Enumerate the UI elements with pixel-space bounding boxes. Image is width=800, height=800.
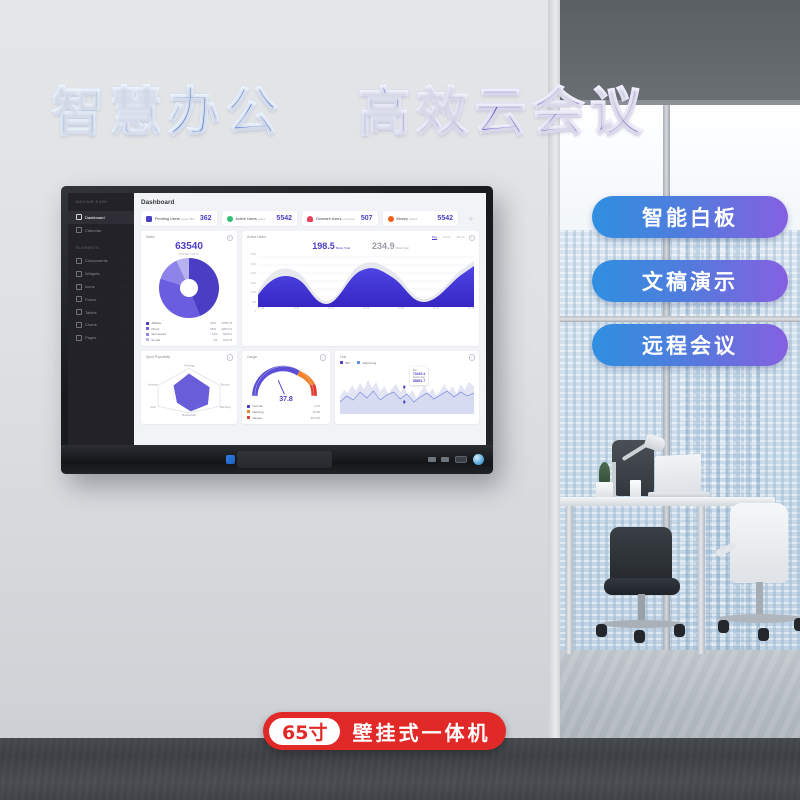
potted-plant-pot bbox=[596, 482, 613, 498]
stat-subtitle: dollars bbox=[409, 217, 417, 221]
legend-swatch bbox=[146, 338, 149, 341]
caster bbox=[596, 624, 607, 637]
caster bbox=[674, 624, 685, 637]
tab-month[interactable]: Month bbox=[457, 235, 465, 241]
stat-value: 5542 bbox=[437, 215, 453, 222]
calendar-icon bbox=[76, 227, 82, 233]
line-legend: Bid Swimming bbox=[340, 361, 474, 365]
sidebar-item-label: Pages bbox=[85, 335, 96, 340]
gear-icon[interactable] bbox=[469, 354, 476, 361]
legend-label: Swimming bbox=[362, 361, 376, 365]
legend-item: Sponsored 13% 8260.2 bbox=[146, 332, 232, 336]
power-button[interactable] bbox=[473, 454, 484, 465]
legend-item: Warning 70-90 bbox=[247, 410, 325, 414]
sidebar: MAXHUB DASH Dashboard Calendar ELEMENTS … bbox=[68, 193, 134, 445]
legend-item: E-mail 7% 4447.8 bbox=[146, 338, 232, 342]
add-card-button[interactable]: + bbox=[463, 211, 479, 226]
chart-tooltip: Bid 73419.4 Swimming 58851.7 bbox=[410, 367, 428, 385]
feature-badge-remote-meeting[interactable]: 远程会议 bbox=[592, 324, 788, 366]
stat-card-dormant-users[interactable]: Dormant Users undertime 507 bbox=[302, 211, 378, 226]
sales-donut-chart bbox=[159, 258, 219, 318]
stat-value: 5542 bbox=[276, 215, 292, 222]
stat-title: Active Users bbox=[236, 217, 257, 221]
legend-range: 0-70 bbox=[314, 404, 325, 408]
sidebar-item-icons[interactable]: Icons › bbox=[68, 280, 134, 293]
sidebar-brand: MAXHUB DASH bbox=[68, 200, 134, 211]
line-card: Line Bid Swimming bbox=[335, 351, 479, 424]
plate-total-label: Plate Total bbox=[396, 246, 409, 250]
legend-swatch bbox=[247, 405, 250, 408]
potted-plant-leaves bbox=[599, 462, 610, 484]
totals-row: 198.5 Butter Total 234.9 Plate Total bbox=[247, 241, 474, 251]
white-chair-post bbox=[756, 582, 763, 618]
stat-subtitle: active bbox=[258, 217, 265, 221]
legend-label: Direct bbox=[152, 327, 160, 331]
gear-icon[interactable] bbox=[469, 235, 476, 242]
stat-title: Dormant Users bbox=[316, 217, 342, 221]
desk-leg-left bbox=[566, 506, 573, 654]
legend-range: 90-100 bbox=[311, 416, 325, 420]
area-plot bbox=[258, 253, 474, 307]
card-title: Sales bbox=[146, 235, 232, 239]
stat-value: 362 bbox=[200, 215, 212, 222]
laptop-screen bbox=[655, 454, 701, 496]
size-badge: 65寸 bbox=[269, 718, 340, 745]
wall-mounted-display: MAXHUB DASH Dashboard Calendar ELEMENTS … bbox=[61, 186, 493, 474]
speaker-grille bbox=[237, 451, 332, 468]
plate-total-value: 234.9 bbox=[372, 241, 395, 251]
legend-amount: 22874.4 bbox=[221, 327, 232, 331]
legend-item: Direct 36% 22874.4 bbox=[146, 327, 232, 331]
feature-badge-presentation[interactable]: 文稿演示 bbox=[592, 260, 788, 302]
legend-item: Affiliate 44% 27857.8 bbox=[146, 321, 232, 325]
stat-card-money[interactable]: Money dollars 5542 bbox=[383, 211, 459, 226]
dashboard-page-title: Dashboard bbox=[141, 199, 479, 206]
product-banner: 65寸 壁挂式一体机 bbox=[263, 712, 506, 750]
legend-swatch bbox=[247, 410, 250, 413]
legend-pct: 7% bbox=[213, 338, 222, 342]
svg-text:Golf: Golf bbox=[150, 405, 156, 409]
chart-icon bbox=[76, 322, 82, 328]
legend-item: Normal 0-70 bbox=[247, 404, 325, 408]
widgets-icon bbox=[76, 271, 82, 277]
card-title: Line bbox=[340, 355, 474, 359]
caster bbox=[634, 630, 645, 643]
stat-title: Pending Users bbox=[155, 217, 180, 221]
sport-popularity-card: Sport Popularity Training Soccer Running… bbox=[141, 351, 237, 424]
headline-left: 智慧办公 bbox=[52, 83, 284, 143]
legend-swatch bbox=[146, 327, 149, 330]
svg-text:Soccer: Soccer bbox=[221, 382, 230, 386]
sidebar-item-widgets[interactable]: Widgets › bbox=[68, 267, 134, 280]
leaf-icon bbox=[227, 216, 233, 222]
card-title: Sport Popularity bbox=[146, 355, 232, 359]
logo-mark-icon bbox=[226, 455, 235, 464]
components-icon bbox=[76, 258, 82, 264]
usb-port-icon bbox=[455, 456, 467, 463]
sidebar-item-calendar[interactable]: Calendar bbox=[68, 224, 134, 237]
legend-amount: 8260.2 bbox=[223, 332, 232, 336]
heart-icon bbox=[307, 216, 313, 222]
tab-day[interactable]: Day bbox=[432, 235, 437, 241]
caster bbox=[794, 618, 800, 631]
chevron-right-icon: › bbox=[125, 323, 126, 327]
table-icon bbox=[76, 309, 82, 315]
caster bbox=[718, 620, 729, 633]
legend-label: Sponsored bbox=[152, 332, 167, 336]
black-chair-seat bbox=[604, 578, 680, 595]
active-users-card: Active Users Day Week Month 198.5 Butte bbox=[242, 231, 479, 346]
feature-badge-whiteboard[interactable]: 智能白板 bbox=[592, 196, 788, 238]
sidebar-item-label: Tables bbox=[85, 310, 97, 315]
stat-title: Money bbox=[397, 217, 408, 221]
page-title: 智慧办公 高效云会议 bbox=[0, 70, 700, 145]
stat-subtitle: undertime bbox=[343, 217, 355, 221]
headline-right: 高效云会议 bbox=[358, 83, 648, 143]
black-chair-base bbox=[600, 620, 684, 628]
sidebar-item-label: Charts bbox=[85, 322, 97, 327]
card-title: Gauge bbox=[247, 355, 325, 359]
svg-text:Training: Training bbox=[184, 363, 195, 367]
svg-text:Hockey: Hockey bbox=[148, 382, 158, 386]
coin-icon bbox=[388, 216, 394, 222]
chevron-right-icon: › bbox=[125, 336, 126, 340]
chevron-right-icon: › bbox=[125, 272, 126, 276]
sales-total: 63540 bbox=[146, 241, 232, 252]
display-bezel-bottom: MAXHUB bbox=[61, 445, 493, 474]
feature-badge-list: 智能白板 文稿演示 远程会议 bbox=[592, 196, 788, 388]
stat-subtitle: Await Offer bbox=[181, 217, 195, 221]
port-icon bbox=[441, 457, 449, 462]
gauge-card: Gauge 37.8 bbox=[242, 351, 330, 424]
chevron-right-icon: › bbox=[125, 285, 126, 289]
legend-amount: 4447.8 bbox=[223, 338, 232, 342]
legend-swatch bbox=[340, 361, 343, 364]
sidebar-item-label: Components bbox=[85, 258, 108, 263]
gear-icon[interactable] bbox=[227, 235, 234, 242]
stat-value: 507 bbox=[361, 215, 373, 222]
sidebar-section-label: ELEMENTS bbox=[68, 237, 134, 255]
sidebar-item-dashboard[interactable]: Dashboard bbox=[68, 211, 134, 224]
banner-label: 壁挂式一体机 bbox=[352, 717, 490, 746]
chart-row-top: Sales 63540 MORE INFO Affiliate 44% 2785… bbox=[141, 231, 479, 346]
sidebar-item-pages[interactable]: Pages › bbox=[68, 331, 134, 344]
stat-card-pending-users[interactable]: Pending Users Await Offer 362 bbox=[141, 211, 217, 226]
dashboard-app: MAXHUB DASH Dashboard Calendar ELEMENTS … bbox=[68, 193, 486, 445]
legend-pct: 44% bbox=[210, 321, 221, 325]
chevron-right-icon: › bbox=[125, 297, 126, 301]
legend-swatch bbox=[146, 322, 149, 325]
home-icon bbox=[76, 214, 82, 220]
poster-canvas: 智慧办公 高效云会议 智能白板 文稿演示 远程会议 65寸 壁挂式一体机 MAX… bbox=[0, 0, 800, 800]
stat-card-row: Pending Users Await Offer 362 Active Use… bbox=[141, 211, 479, 226]
desk-leg-right bbox=[698, 506, 705, 654]
display-screen[interactable]: MAXHUB DASH Dashboard Calendar ELEMENTS … bbox=[68, 193, 486, 445]
sidebar-item-tables[interactable]: Tables › bbox=[68, 306, 134, 319]
white-chair-base bbox=[718, 614, 800, 623]
legend-item: Danger 90-100 bbox=[247, 416, 325, 420]
chart-row-bottom: Sport Popularity Training Soccer Running… bbox=[141, 351, 479, 424]
sidebar-item-label: Forms bbox=[85, 297, 96, 302]
sales-card: Sales 63540 MORE INFO Affiliate 44% 2785… bbox=[141, 231, 237, 346]
legend-swatch bbox=[146, 333, 149, 336]
dashboard-main: Dashboard Pending Users Await Offer 362 bbox=[134, 193, 486, 445]
gear-icon[interactable] bbox=[320, 354, 327, 361]
caster bbox=[758, 628, 769, 641]
sidebar-item-charts[interactable]: Charts › bbox=[68, 318, 134, 331]
legend-swatch bbox=[247, 416, 250, 419]
gauge-chart bbox=[247, 361, 325, 401]
area-chart: 300025002000150010005000 bbox=[247, 253, 474, 313]
legend-label: Normal bbox=[253, 404, 263, 408]
white-chair-back bbox=[730, 503, 788, 583]
pages-icon bbox=[76, 335, 82, 341]
pen-cup bbox=[630, 480, 641, 498]
gear-icon[interactable] bbox=[227, 354, 234, 361]
legend-pct: 36% bbox=[210, 327, 221, 331]
flag-icon bbox=[146, 216, 152, 222]
sidebar-item-forms[interactable]: Forms › bbox=[68, 293, 134, 306]
stat-card-active-users[interactable]: Active Users active 5542 bbox=[222, 211, 298, 226]
sidebar-item-components[interactable]: Components › bbox=[68, 255, 134, 268]
y-axis-ticks: 300025002000150010005000 bbox=[247, 253, 256, 313]
legend-pct: 13% bbox=[212, 332, 223, 336]
butter-total-value: 198.5 bbox=[312, 241, 335, 251]
sidebar-item-label: Calendar bbox=[85, 228, 101, 233]
sidebar-item-label: Widgets bbox=[85, 271, 99, 276]
chevron-right-icon: › bbox=[125, 310, 126, 314]
svg-text:Running: Running bbox=[220, 405, 231, 409]
sidebar-item-label: Dashboard bbox=[85, 215, 105, 220]
star-icon bbox=[76, 284, 82, 290]
legend-label: Warning bbox=[253, 410, 264, 414]
form-icon bbox=[76, 296, 82, 302]
radar-chart: Training Soccer Running Basketball Golf … bbox=[146, 361, 232, 417]
legend-label: Bid bbox=[346, 361, 350, 365]
x-axis-ticks: 07-0507-0607-0707-0807-0907-1007-11 bbox=[258, 307, 474, 313]
legend-label: E-mail bbox=[152, 338, 161, 342]
legend-label: Danger bbox=[253, 416, 263, 420]
legend-range: 70-90 bbox=[312, 410, 325, 414]
range-tabs: Day Week Month bbox=[432, 235, 465, 241]
area-series-svg bbox=[258, 253, 474, 307]
legend-label: Affiliate bbox=[152, 321, 162, 325]
sidebar-item-label: Icons bbox=[85, 284, 95, 289]
tooltip-series-2-value: 58851.7 bbox=[413, 379, 425, 383]
legend-amount: 27857.8 bbox=[221, 321, 232, 325]
butter-total-label: Butter Total bbox=[336, 246, 350, 250]
port-icon bbox=[428, 457, 436, 462]
svg-text:Basketball: Basketball bbox=[182, 413, 196, 417]
more-info-link[interactable]: MORE INFO bbox=[146, 252, 232, 256]
line-chart bbox=[340, 366, 474, 414]
chevron-right-icon: › bbox=[125, 259, 126, 263]
tab-week[interactable]: Week bbox=[443, 235, 451, 241]
port-group bbox=[428, 457, 449, 462]
legend-swatch bbox=[357, 361, 360, 364]
